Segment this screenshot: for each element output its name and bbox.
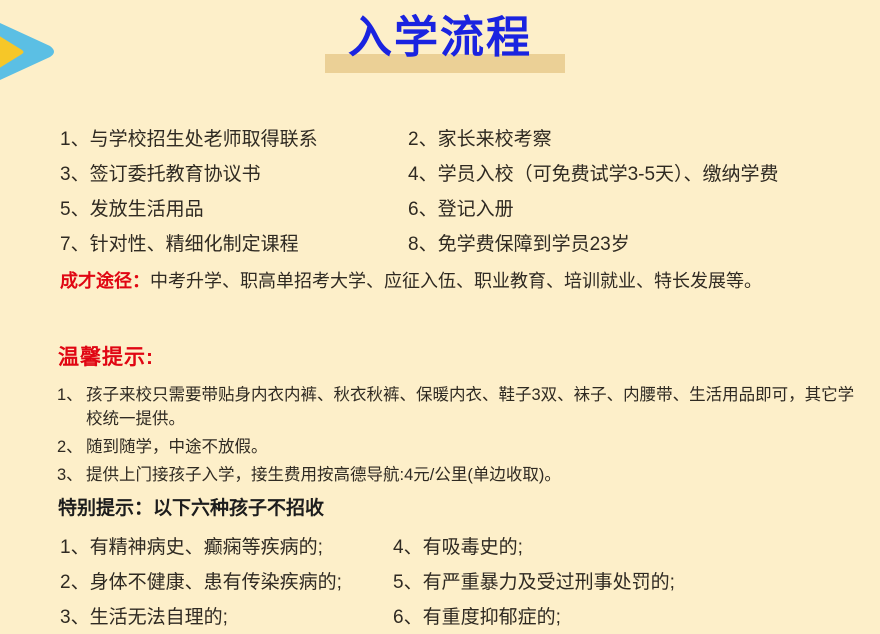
special-row: 1、有精神病史、癫痫等疾病的; 4、有吸毒史的; bbox=[0, 530, 880, 565]
process-step-3: 3、签订委托教育协议书 bbox=[60, 157, 261, 192]
special-row: 3、生活无法自理的; 6、有重度抑郁症的; bbox=[0, 600, 880, 634]
special-item-1: 1、有精神病史、癫痫等疾病的; bbox=[60, 530, 323, 565]
process-step-2: 2、家长来校考察 bbox=[408, 122, 552, 157]
tip-number: 3、 bbox=[57, 463, 83, 487]
tip-item: 1、孩子来校只需要带贴身内衣内裤、秋衣秋裤、保暖内衣、鞋子3双、袜子、内腰带、生… bbox=[57, 383, 867, 431]
process-row: 5、发放生活用品 6、登记入册 bbox=[0, 192, 880, 227]
process-list: 1、与学校招生处老师取得联系 2、家长来校考察 3、签订委托教育协议书 4、学员… bbox=[0, 122, 880, 262]
special-item-4: 4、有吸毒史的; bbox=[393, 530, 523, 565]
special-item-2: 2、身体不健康、患有传染疾病的; bbox=[60, 565, 342, 600]
process-step-8: 8、免学费保障到学员23岁 bbox=[408, 227, 630, 262]
process-step-5: 5、发放生活用品 bbox=[60, 192, 204, 227]
tip-text: 孩子来校只需要带贴身内衣内裤、秋衣秋裤、保暖内衣、鞋子3双、袜子、内腰带、生活用… bbox=[86, 386, 854, 428]
tips-heading: 温馨提示: bbox=[58, 344, 154, 372]
tip-item: 3、提供上门接孩子入学，接生费用按高德导航:4元/公里(单边收取)。 bbox=[57, 463, 867, 487]
tip-item: 2、随到随学，中途不放假。 bbox=[57, 435, 867, 459]
title-block: 入学流程 bbox=[0, 10, 880, 82]
poster-page: 入学流程 1、与学校招生处老师取得联系 2、家长来校考察 3、签订委托教育协议书… bbox=[0, 0, 880, 634]
tip-text: 提供上门接孩子入学，接生费用按高德导航:4元/公里(单边收取)。 bbox=[86, 466, 561, 484]
pathway-text: 中考升学、职高单招考大学、应征入伍、职业教育、培训就业、特长发展等。 bbox=[150, 271, 762, 291]
tips-list: 1、孩子来校只需要带贴身内衣内裤、秋衣秋裤、保暖内衣、鞋子3双、袜子、内腰带、生… bbox=[57, 383, 867, 491]
pathway-label: 成才途径： bbox=[60, 271, 150, 291]
special-notice-heading: 特别提示：以下六种孩子不招收 bbox=[58, 496, 324, 522]
pathway-line: 成才途径：中考升学、职高单招考大学、应征入伍、职业教育、培训就业、特长发展等。 bbox=[60, 268, 762, 294]
special-item-5: 5、有严重暴力及受过刑事处罚的; bbox=[393, 565, 675, 600]
process-row: 1、与学校招生处老师取得联系 2、家长来校考察 bbox=[0, 122, 880, 157]
tip-text: 随到随学，中途不放假。 bbox=[86, 438, 268, 456]
special-item-6: 6、有重度抑郁症的; bbox=[393, 600, 561, 634]
special-notice-list: 1、有精神病史、癫痫等疾病的; 4、有吸毒史的; 2、身体不健康、患有传染疾病的… bbox=[0, 530, 880, 634]
process-step-7: 7、针对性、精细化制定课程 bbox=[60, 227, 299, 262]
special-row: 2、身体不健康、患有传染疾病的; 5、有严重暴力及受过刑事处罚的; bbox=[0, 565, 880, 600]
process-row: 7、针对性、精细化制定课程 8、免学费保障到学员23岁 bbox=[0, 227, 880, 262]
process-step-1: 1、与学校招生处老师取得联系 bbox=[60, 122, 318, 157]
process-step-4: 4、学员入校（可免费试学3-5天）、缴纳学费 bbox=[408, 157, 779, 192]
special-item-3: 3、生活无法自理的; bbox=[60, 600, 228, 634]
page-title: 入学流程 bbox=[0, 10, 880, 66]
process-step-6: 6、登记入册 bbox=[408, 192, 514, 227]
tip-number: 1、 bbox=[57, 383, 83, 407]
process-row: 3、签订委托教育协议书 4、学员入校（可免费试学3-5天）、缴纳学费 bbox=[0, 157, 880, 192]
tip-number: 2、 bbox=[57, 435, 83, 459]
